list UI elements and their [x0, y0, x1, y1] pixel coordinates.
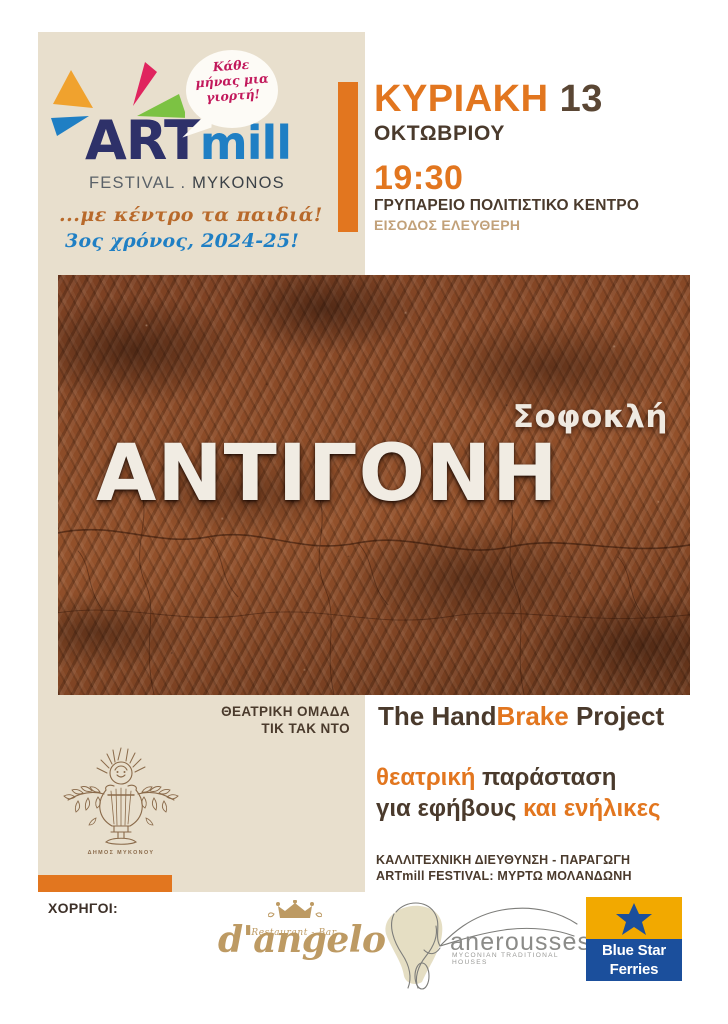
credits-line-1: ΚΑΛΛΙΤΕΧΝΙΚΗ ΔΙΕΥΘΥΝΣΗ - ΠΑΡΑΓΩΓΗ	[376, 852, 632, 868]
sponsor-dangelo-name: d'angelo	[218, 922, 370, 958]
logo-subtitle-dot: .	[181, 174, 187, 192]
seal-caption: ΔΗΜΟΣ ΜΥΚΟΝΟΥ	[56, 850, 186, 856]
sponsor-dangelo[interactable]: Restaurant - Bar d'angelo	[218, 898, 370, 980]
bsf-wordmark: Blue Star Ferries	[586, 941, 682, 979]
logo-tagline-year: 3ος χρόνος, 2024-25!	[65, 230, 299, 252]
event-entry-info: ΕΙΣΟΔΟΣ ΕΛΕΥΘΕΡΗ	[374, 216, 704, 235]
audience-tagline-hl1: θεατρική	[376, 764, 475, 791]
sponsors-label: ΧΟΡΗΓΟΙ:	[48, 900, 118, 916]
event-day-name: ΚΥΡΙΑΚΗ	[374, 78, 549, 120]
audience-tagline-rest1: παράσταση	[475, 764, 616, 791]
production-credits: ΚΑΛΛΙΤΕΧΝΙΚΗ ΔΙΕΥΘΥΝΣΗ - ΠΑΡΑΓΩΓΗ ARTmil…	[376, 852, 632, 884]
logo-subtitle-festival: FESTIVAL	[89, 174, 175, 192]
event-day-number: 13	[560, 78, 603, 120]
dry-earth-cracks	[58, 493, 690, 695]
orange-divider-bar	[38, 875, 172, 892]
poster-canvas: ARTmill FESTIVAL . MYKONOS ...με κέντρο …	[0, 0, 728, 1024]
audience-tagline-line2: για εφήβους και ενήλικες	[376, 793, 706, 824]
star-icon	[614, 902, 654, 936]
logo-word-art: ART	[85, 109, 200, 172]
theatre-group-line2: ΤΙΚ ΤΑΚ ΝΤΟ	[190, 720, 350, 737]
troupe-name-pre: The Hand	[378, 701, 496, 731]
bsf-line-1: Blue Star	[586, 941, 682, 960]
troupe-name: The HandBrake Project	[378, 700, 664, 732]
logo-tagline-children: ...με κέντρο τα παιδιά!	[59, 204, 323, 226]
troupe-name-post: Project	[569, 701, 664, 731]
audience-tagline: θεατρική παράσταση για εφήβους και ενήλι…	[376, 762, 706, 824]
sponsor-anerousses-sub: MYCONIAN TRADITIONAL HOUSES	[452, 952, 580, 966]
lyre-emblem-icon	[56, 742, 186, 854]
bsf-line-2: Ferries	[586, 960, 682, 979]
event-day: ΚΥΡΙΑΚΗ 13	[374, 78, 704, 120]
event-details: ΚΥΡΙΑΚΗ 13 ΟΚΤΩΒΡΙΟΥ 19:30 ΓΡΥΠΑΡΕΙΟ ΠΟΛ…	[374, 78, 704, 235]
logo-subtitle-city: MYKONOS	[192, 174, 285, 192]
logo-subtitle: FESTIVAL . MYKONOS	[89, 174, 285, 193]
audience-tagline-hl2: και ενήλικες	[523, 795, 660, 822]
audience-tagline-rest2: για εφήβους	[376, 795, 523, 822]
event-time: 19:30	[374, 160, 704, 196]
sponsor-anerousses[interactable]: anerousses MYCONIAN TRADITIONAL HOUSES	[372, 890, 580, 990]
orange-accent-bar	[338, 82, 358, 232]
speech-bubble-text: Κάθε μήνας μια γιορτή!	[189, 55, 276, 106]
theatre-group-label: ΘΕΑΤΡΙΚΗ ΟΜΑΔΑ ΤΙΚ ΤΑΚ ΝΤΟ	[190, 703, 350, 737]
event-venue: ΓΡΥΠΑΡΕΙΟ ΠΟΛΙΤΙΣΤΙΚΟ ΚΕΝΤΡΟ	[374, 196, 704, 216]
troupe-name-highlight: Brake	[496, 701, 568, 731]
play-title: ΑΝΤΙΓΟΝΗ	[96, 435, 558, 513]
play-title-text: ΑΝΤΙΓΟΝΗ	[96, 429, 558, 519]
credits-line-2: ARTmill FESTIVAL: ΜΥΡΤΩ ΜΟΛΑΝΔΩΝΗ	[376, 868, 632, 884]
theatre-group-line1: ΘΕΑΤΡΙΚΗ ΟΜΑΔΑ	[190, 703, 350, 720]
audience-tagline-line1: θεατρική παράσταση	[376, 762, 706, 793]
logo-wordmark: ARTmill	[85, 114, 291, 168]
play-artwork-photo: Σοφοκλή ΑΝΤΙΓΟΝΗ	[58, 275, 690, 695]
mykonos-municipality-seal: ΔΗΜΟΣ ΜΥΚΟΝΟΥ	[56, 742, 186, 870]
sponsor-blue-star-ferries[interactable]: Blue Star Ferries	[586, 897, 682, 981]
event-month: ΟΚΤΩΒΡΙΟΥ	[374, 120, 704, 148]
